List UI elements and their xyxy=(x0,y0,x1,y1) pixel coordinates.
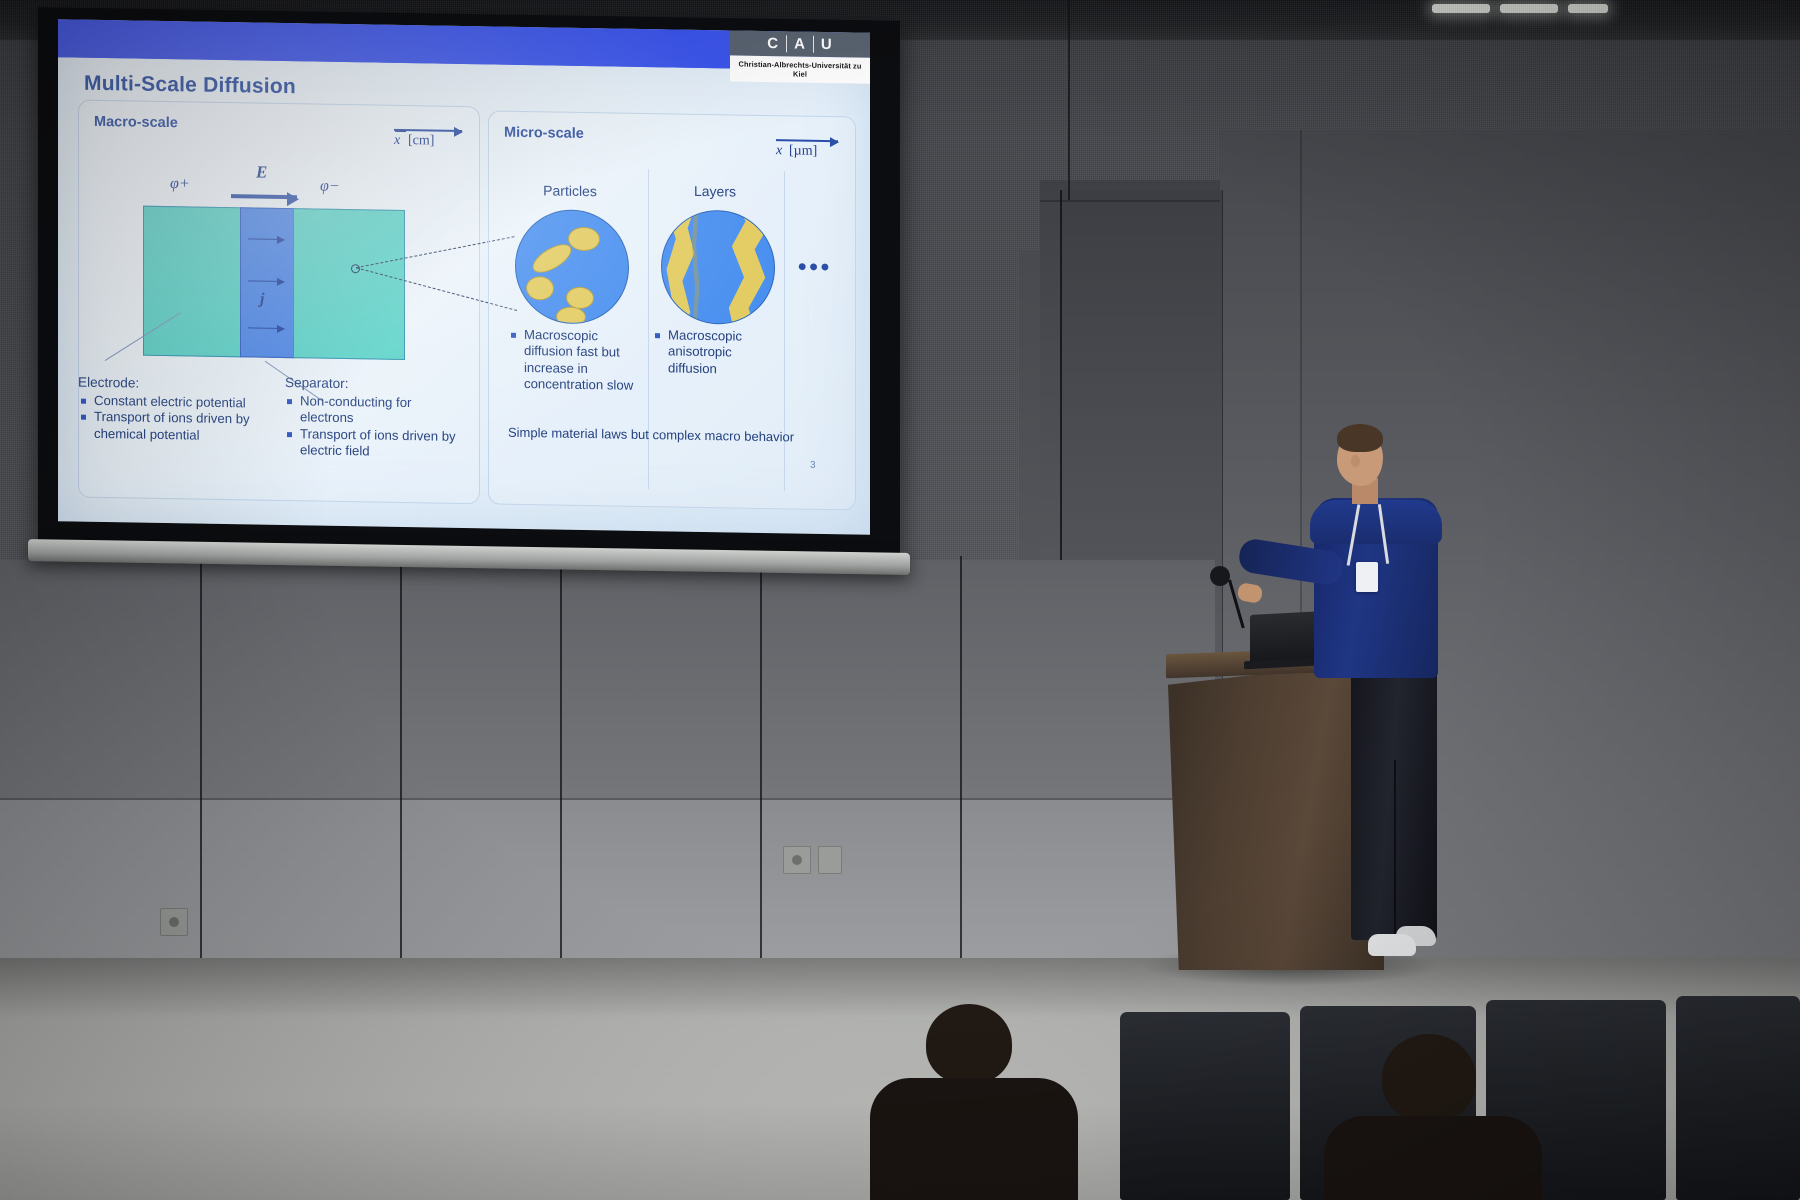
presenter-hair xyxy=(1337,424,1383,452)
separator-bullets: Non-conducting for electrons Transport o… xyxy=(286,393,464,462)
particle-inclusion xyxy=(568,227,600,252)
lecture-hall-photo: C A U Christian-Albrechts-Universität zu… xyxy=(0,0,1800,1200)
audience-member-shoulders xyxy=(1324,1116,1542,1200)
panel-seam xyxy=(760,558,762,960)
micro-column-title-layers: Layers xyxy=(652,182,778,200)
micro-axis-unit: [µm] xyxy=(789,143,817,159)
cau-logo: C A U Christian-Albrechts-Universität zu… xyxy=(730,30,870,83)
panel-seam-horizontal xyxy=(1040,200,1220,202)
cau-logo-letter-c: C xyxy=(760,35,787,52)
electrode-bullet: Transport of ions driven by chemical pot… xyxy=(80,409,255,445)
potential-minus-label: φ− xyxy=(320,178,340,196)
macro-axis-symbol: x xyxy=(394,133,400,149)
flux-symbol-label: j xyxy=(260,291,264,309)
slide-number: 3 xyxy=(810,460,816,471)
microphone-icon xyxy=(1210,566,1230,586)
presentation-slide: C A U Christian-Albrechts-Universität zu… xyxy=(58,19,870,534)
slide-title: Multi-Scale Diffusion xyxy=(84,72,296,100)
name-badge xyxy=(1356,562,1378,592)
layer-band-edge xyxy=(688,209,704,325)
audience-member-head xyxy=(926,1004,1012,1084)
panel-seam-horizontal xyxy=(0,798,1215,800)
macro-axis-overbar xyxy=(395,131,406,132)
separator-bullet: Non-conducting for electrons xyxy=(286,393,464,429)
cau-logo-subtitle: Christian-Albrechts-Universität zu Kiel xyxy=(730,55,870,83)
particles-microstructure-graphic xyxy=(515,209,629,325)
particles-bullet: Macroscopic diffusion fast but increase … xyxy=(510,327,646,395)
panel-seam xyxy=(200,562,202,962)
presenter-leg-seam xyxy=(1394,760,1396,940)
field-symbol-label: E xyxy=(256,163,267,183)
audience-member-shoulders xyxy=(870,1078,1078,1200)
electrode-right xyxy=(293,208,405,360)
panel-seam xyxy=(400,562,402,962)
wall-switch[interactable] xyxy=(818,846,842,874)
layers-bullets: Macroscopic anisotropic diffusion xyxy=(654,327,778,378)
particle-inclusion xyxy=(526,276,554,300)
micro-axis-symbol: x xyxy=(776,143,782,159)
layers-microstructure-graphic xyxy=(661,209,775,325)
particles-bullets: Macroscopic diffusion fast but increase … xyxy=(510,327,646,395)
electrode-bullets: Constant electric potential Transport of… xyxy=(80,393,255,445)
separator-bullet: Transport of ions driven by electric fie… xyxy=(286,426,464,462)
audience-chair xyxy=(1120,1012,1290,1200)
cau-logo-letter-u: U xyxy=(814,36,840,53)
particle-inclusion xyxy=(528,239,576,279)
separator-heading: Separator: xyxy=(285,375,445,394)
particle-inclusion xyxy=(556,307,586,325)
audience-chair xyxy=(1676,996,1800,1200)
cau-logo-letter-a: A xyxy=(787,35,814,52)
wall-socket[interactable] xyxy=(160,908,188,936)
panel-seam xyxy=(960,556,962,960)
presenter-shoe xyxy=(1368,934,1416,956)
macro-scale-label: Macro-scale xyxy=(94,114,178,131)
potential-plus-label: φ+ xyxy=(170,175,190,193)
wall-socket[interactable] xyxy=(783,846,811,874)
separator-region xyxy=(240,207,295,358)
electrode-heading: Electrode: xyxy=(78,375,218,394)
panel-seam xyxy=(1068,0,1070,200)
micro-column-title-particles: Particles xyxy=(510,182,630,200)
presenter-shoulders xyxy=(1310,500,1442,544)
electrode-left xyxy=(143,206,242,358)
audience-member-head xyxy=(1382,1034,1476,1122)
panel-seam xyxy=(560,560,562,960)
presenter-ear xyxy=(1351,455,1360,467)
wall-panel-baseboard xyxy=(0,800,1215,960)
macro-axis-unit: [cm] xyxy=(408,133,434,149)
cau-logo-letters: C A U xyxy=(730,30,870,57)
micro-ellipsis: ••• xyxy=(798,254,832,283)
layers-bullet: Macroscopic anisotropic diffusion xyxy=(654,327,778,378)
micro-scale-label: Micro-scale xyxy=(504,125,584,142)
